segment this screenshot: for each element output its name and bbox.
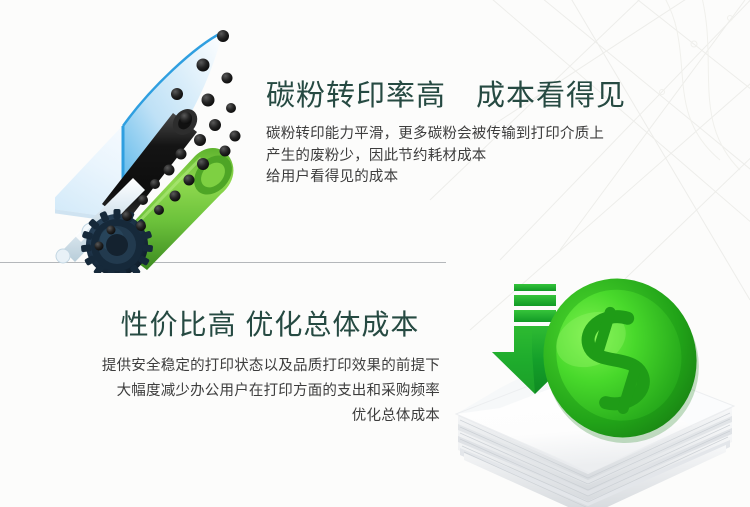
body-line: 碳粉转印能力平滑，更多碳粉会被传输到打印介质上 xyxy=(266,124,686,146)
section-headline: 性价比高 优化总体成本 xyxy=(30,308,440,342)
body-line: 产生的废粉少，因此节约耗材成本 xyxy=(266,146,686,168)
body-line: 大幅度减少办公用户在打印方面的支出和采购频率 xyxy=(30,379,440,404)
body-line: 提供安全稳定的打印状态以及品质打印效果的前提下 xyxy=(30,354,440,379)
body-line: 优化总体成本 xyxy=(30,404,440,429)
section-headline: 碳粉转印率高 成本看得见 xyxy=(266,78,686,114)
section-body: 提供安全稳定的打印状态以及品质打印效果的前提下 大幅度减少办公用户在打印方面的支… xyxy=(30,354,440,429)
paper-stack-money-illustration xyxy=(440,268,750,507)
cost-optimization-text-block: 性价比高 优化总体成本 提供安全稳定的打印状态以及品质打印效果的前提下 大幅度减… xyxy=(30,308,440,429)
promo-page: 碳粉转印率高 成本看得见 碳粉转印能力平滑，更多碳粉会被传输到打印介质上 产生的… xyxy=(0,0,750,507)
section-body: 碳粉转印能力平滑，更多碳粉会被传输到打印介质上 产生的废粉少，因此节约耗材成本 … xyxy=(266,124,686,189)
toner-transfer-text-block: 碳粉转印率高 成本看得见 碳粉转印能力平滑，更多碳粉会被传输到打印介质上 产生的… xyxy=(266,78,686,189)
body-line: 给用户看得见的成本 xyxy=(266,167,686,189)
drum-roller-illustration xyxy=(55,18,285,273)
